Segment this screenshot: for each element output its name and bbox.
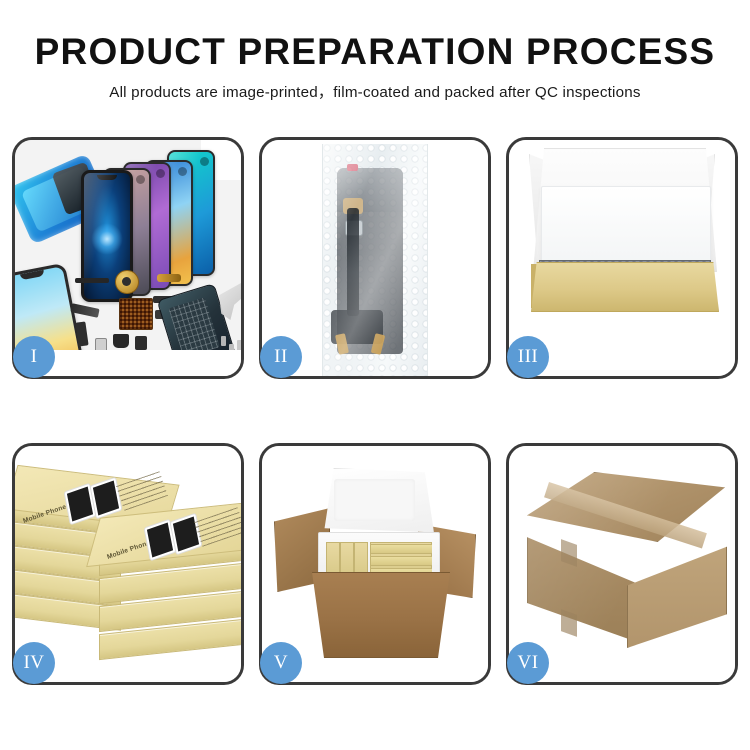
page-subtitle: All products are image-printed，film-coat… [0,82,750,104]
gold-contact-part [157,274,181,282]
connector-grid-part [119,298,153,330]
speaker-module-part [115,270,139,294]
bubble-wrap-bag-graphic [322,144,428,376]
step-panel-2[interactable]: II [259,137,491,379]
side-flex-part [75,321,88,346]
carton-front-wall [306,572,456,658]
foam-box-lid [320,468,434,538]
step-badge-3: III [507,336,549,378]
step-badge-5: V [260,642,302,684]
step-image-5 [262,446,488,682]
flex-cable-part [75,278,109,283]
step-image-2 [262,140,488,376]
step-image-6 [509,446,735,682]
step-badge-4: IV [13,642,55,684]
step-image-1: 10:08 [15,140,241,376]
box-stack-graphic: Mobile Phone Spare Parts Mobile Phone Sp… [15,452,241,680]
step-panel-6[interactable]: VI [506,443,738,685]
tape-tab [561,609,577,637]
step-badge-1: I [13,336,55,378]
step-panel-4[interactable]: Mobile Phone Spare Parts Mobile Phone Sp… [12,443,244,685]
sensor-part [135,336,147,350]
step-panel-3[interactable]: III [506,137,738,379]
camera-module-part [113,334,129,348]
page-title: PRODUCT PREPARATION PROCESS [0,30,750,74]
step-image-3 [509,140,735,376]
step-image-4: Mobile Phone Spare Parts Mobile Phone Sp… [15,446,241,682]
kraft-tray-box [531,262,719,312]
phone-lineup-graphic: 10:08 [79,148,241,288]
display-ribbon-cable [347,208,359,316]
step-badge-2: II [260,336,302,378]
step-panel-1[interactable]: 10:08 [12,137,244,379]
step-panel-5[interactable]: V [259,443,491,685]
carton-left-face [527,520,637,642]
red-tab-icon [347,164,358,171]
product-preparation-infographic: PRODUCT PREPARATION PROCESS All products… [0,0,750,750]
screw-part [221,336,226,346]
step-badge-6: VI [507,642,549,684]
steps-grid: 10:08 [12,137,738,693]
header: PRODUCT PREPARATION PROCESS All products… [0,0,750,104]
